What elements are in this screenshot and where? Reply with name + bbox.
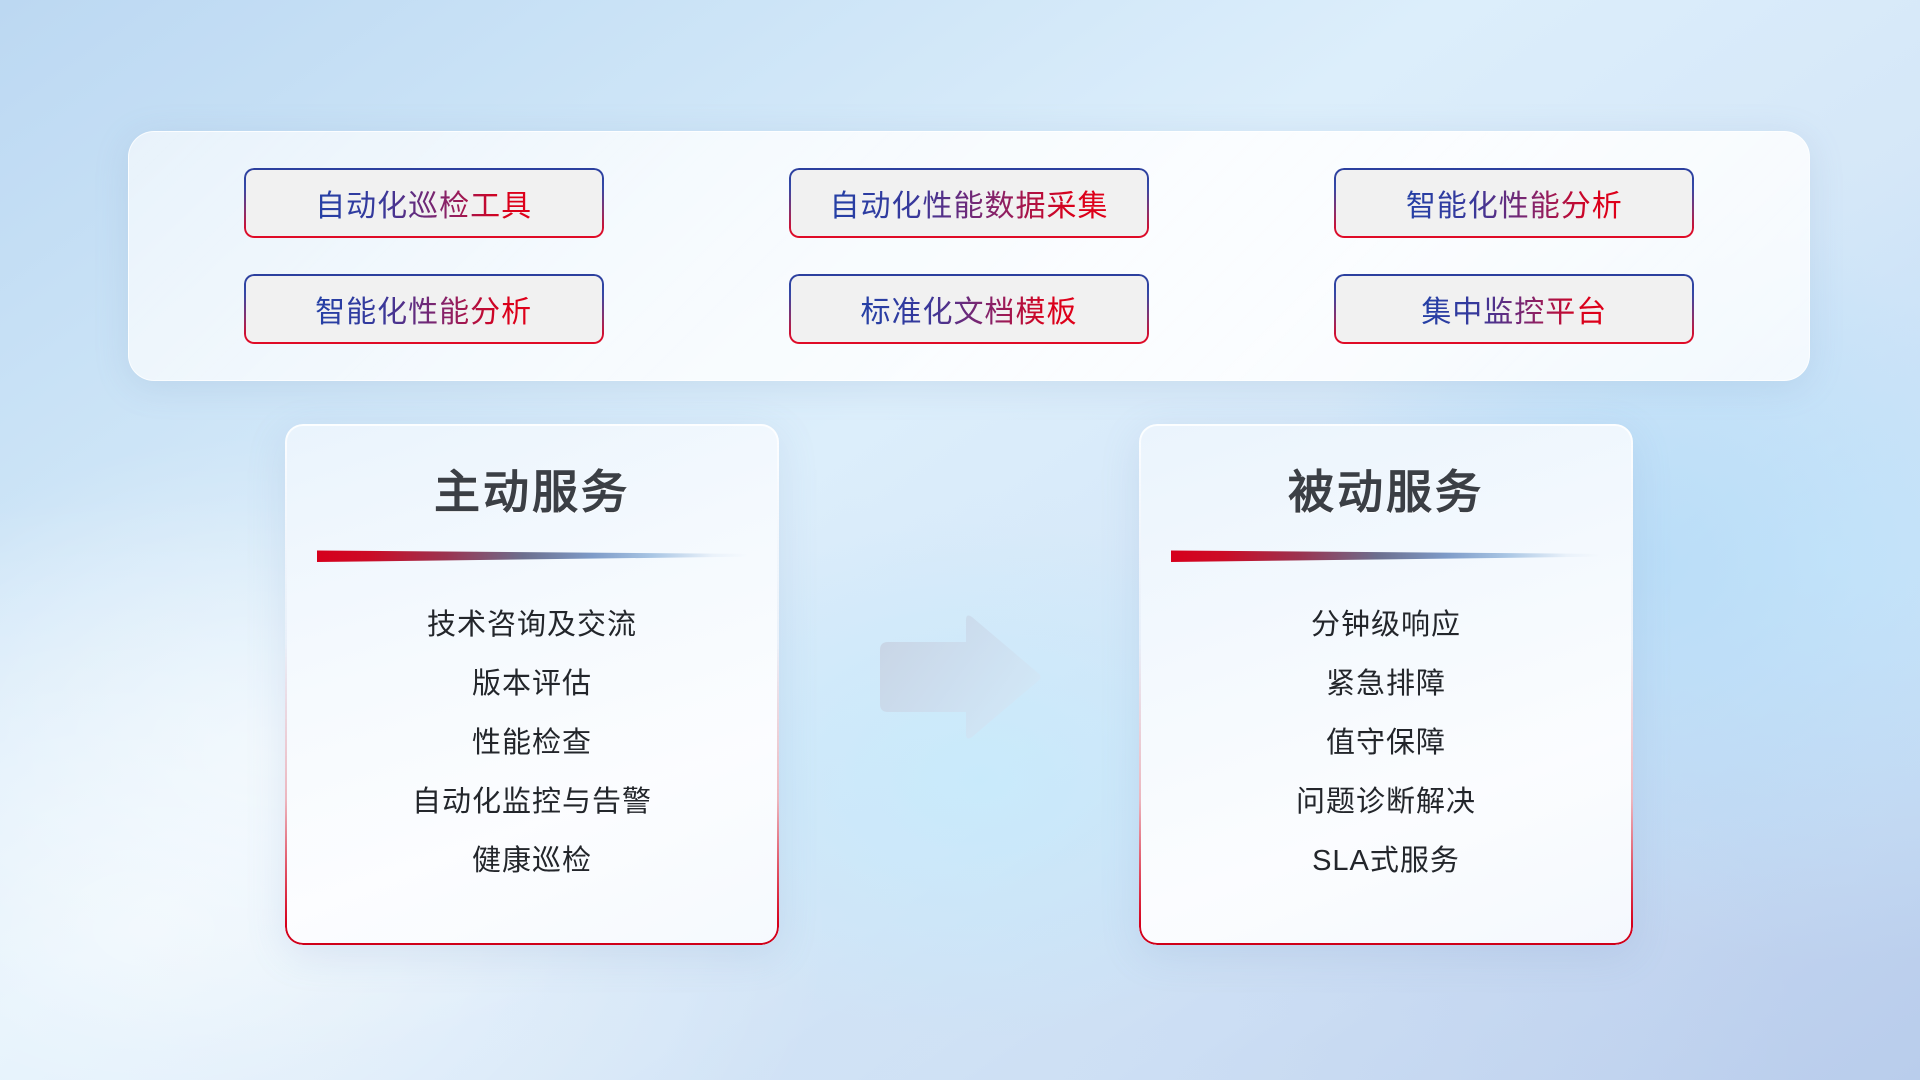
arrow-right-icon — [874, 614, 1042, 740]
list-item: 健康巡检 — [285, 832, 779, 891]
service-card-title: 被动服务 — [1139, 424, 1633, 522]
service-item-list: 技术咨询及交流 版本评估 性能检查 自动化监控与告警 健康巡检 — [285, 562, 779, 891]
capability-tag-4[interactable]: 智能化性能分析 — [244, 274, 604, 344]
list-item: 版本评估 — [285, 655, 779, 714]
list-item: 紧急排障 — [1139, 655, 1633, 714]
title-divider — [317, 548, 747, 562]
list-item: 性能检查 — [285, 714, 779, 773]
list-item: 自动化监控与告警 — [285, 773, 779, 832]
service-card-title: 主动服务 — [285, 424, 779, 522]
capability-tag-1[interactable]: 自动化巡检工具 — [244, 168, 604, 238]
capability-tag-6[interactable]: 集中监控平台 — [1334, 274, 1694, 344]
service-item-list: 分钟级响应 紧急排障 值守保障 问题诊断解决 SLA式服务 — [1139, 562, 1633, 891]
title-divider-bar — [1171, 548, 1601, 562]
list-item: 分钟级响应 — [1139, 596, 1633, 655]
capability-tags-grid: 自动化巡检工具 自动化性能数据采集 智能化性能分析 智能化性能分析 标准化文档模… — [129, 132, 1809, 380]
list-item: 问题诊断解决 — [1139, 773, 1633, 832]
capability-tag-label: 智能化性能分析 — [315, 287, 532, 331]
title-divider — [1171, 548, 1601, 562]
capability-tag-label: 自动化巡检工具 — [315, 181, 532, 225]
title-divider-bar — [317, 548, 747, 562]
capability-tag-label: 自动化性能数据采集 — [829, 181, 1108, 225]
capability-tag-2[interactable]: 自动化性能数据采集 — [789, 168, 1149, 238]
service-card-reactive: 被动服务 分钟级响应 紧急排障 值守保障 问题诊断解决 SLA式服务 — [1139, 424, 1633, 945]
capability-tags-panel: 自动化巡检工具 自动化性能数据采集 智能化性能分析 智能化性能分析 标准化文档模… — [128, 131, 1810, 381]
service-card-proactive: 主动服务 技术咨询及交流 版本评估 性能检查 自动化监控与告警 健康巡检 — [285, 424, 779, 945]
capability-tag-label: 标准化文档模板 — [860, 287, 1077, 331]
list-item: 值守保障 — [1139, 714, 1633, 773]
capability-tag-label: 智能化性能分析 — [1406, 181, 1623, 225]
list-item: SLA式服务 — [1139, 832, 1633, 891]
capability-tag-5[interactable]: 标准化文档模板 — [789, 274, 1149, 344]
capability-tag-label: 集中监控平台 — [1421, 287, 1607, 331]
list-item: 技术咨询及交流 — [285, 596, 779, 655]
capability-tag-3[interactable]: 智能化性能分析 — [1334, 168, 1694, 238]
